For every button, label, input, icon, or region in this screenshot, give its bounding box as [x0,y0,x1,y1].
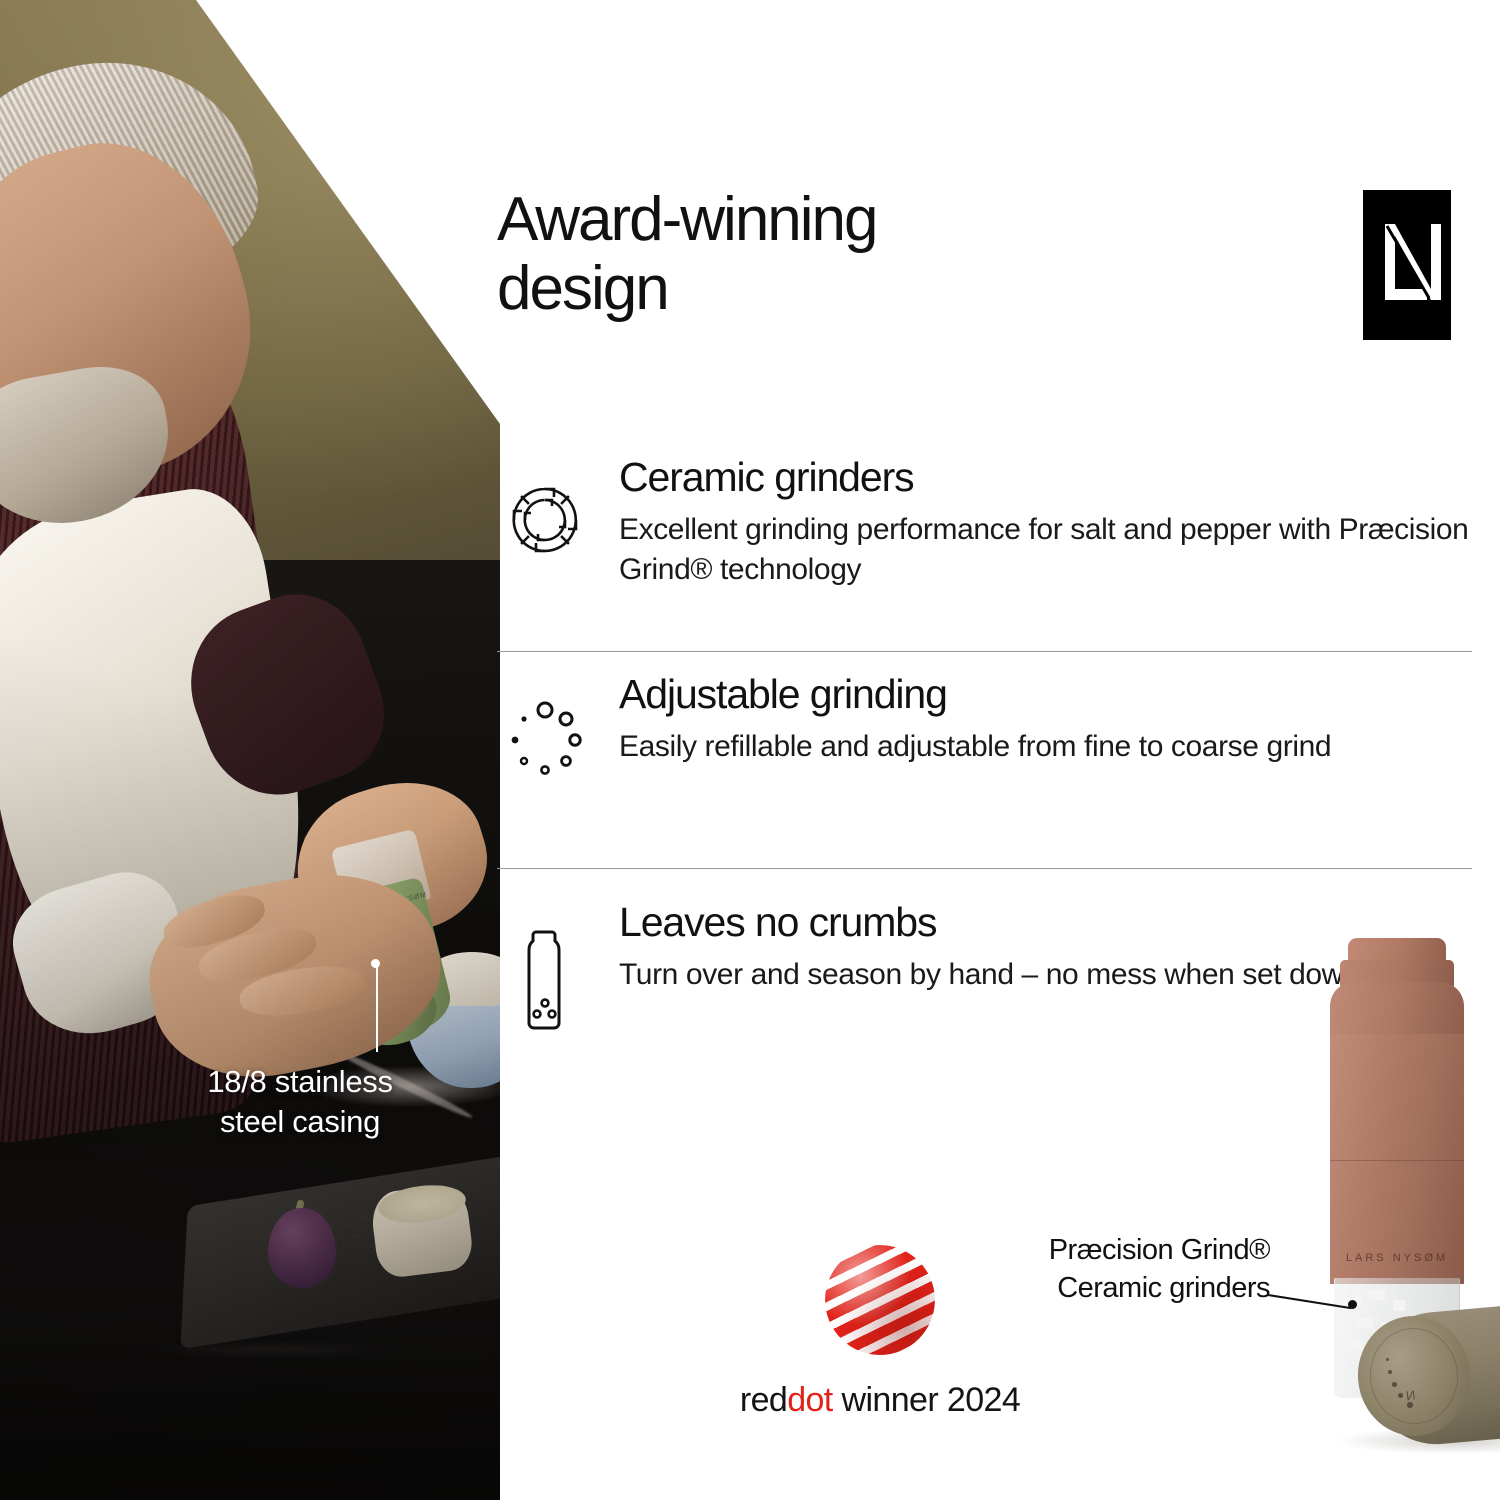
feature-text-block: Adjustable grinding Easily refillable an… [619,672,1472,767]
terracotta-mill-body [1330,1034,1464,1284]
reddot-sphere-icon [825,1245,935,1355]
lars-nysom-logo [1363,190,1451,340]
olive-mill-cap-mark: И [1405,1388,1416,1404]
feature-divider [497,651,1472,652]
lifestyle-photo: LARS NYSØM [0,0,500,1500]
callout-leader-dot [1348,1300,1357,1309]
mill-body-no-crumbs-icon [497,900,593,1032]
feature-title: Ceramic grinders [619,455,1472,501]
ceramic-burr-grinder-icon [497,455,593,557]
photo-vignette [0,0,500,1500]
reddot-label-red: red [740,1381,787,1419]
terracotta-mill-seam [1330,1160,1464,1161]
terracotta-mill-engraving: LARS NYSØM [1330,1252,1464,1264]
terracotta-mill-shoulder [1330,982,1464,1042]
feature-text-block: Ceramic grinders Excellent grinding perf… [619,455,1472,590]
grind-coarseness-dots-icon [497,672,593,780]
feature-divider [497,868,1472,869]
product-photo: LARS NYSØM И [1230,930,1500,1500]
feature-title: Adjustable grinding [619,672,1472,718]
reddot-label-winner: winner 2024 [833,1381,1021,1419]
page-title: Award-winning design [497,185,1117,324]
caption-leader-line [376,966,378,1052]
reddot-award: reddot winner 2024 [700,1245,1060,1420]
feature-ceramic-grinders: Ceramic grinders Excellent grinding perf… [497,455,1472,590]
lars-nysom-monogram-icon [1363,190,1451,340]
feature-adjustable-grinding: Adjustable grinding Easily refillable an… [497,672,1472,780]
reddot-award-label: reddot winner 2024 [700,1381,1060,1420]
reddot-label-dot: dot [787,1381,832,1419]
feature-description: Easily refillable and adjustable from fi… [619,727,1472,767]
photo-caption: 18/8 stainless steel casing [150,1062,450,1141]
feature-description: Excellent grinding performance for salt … [619,510,1472,590]
